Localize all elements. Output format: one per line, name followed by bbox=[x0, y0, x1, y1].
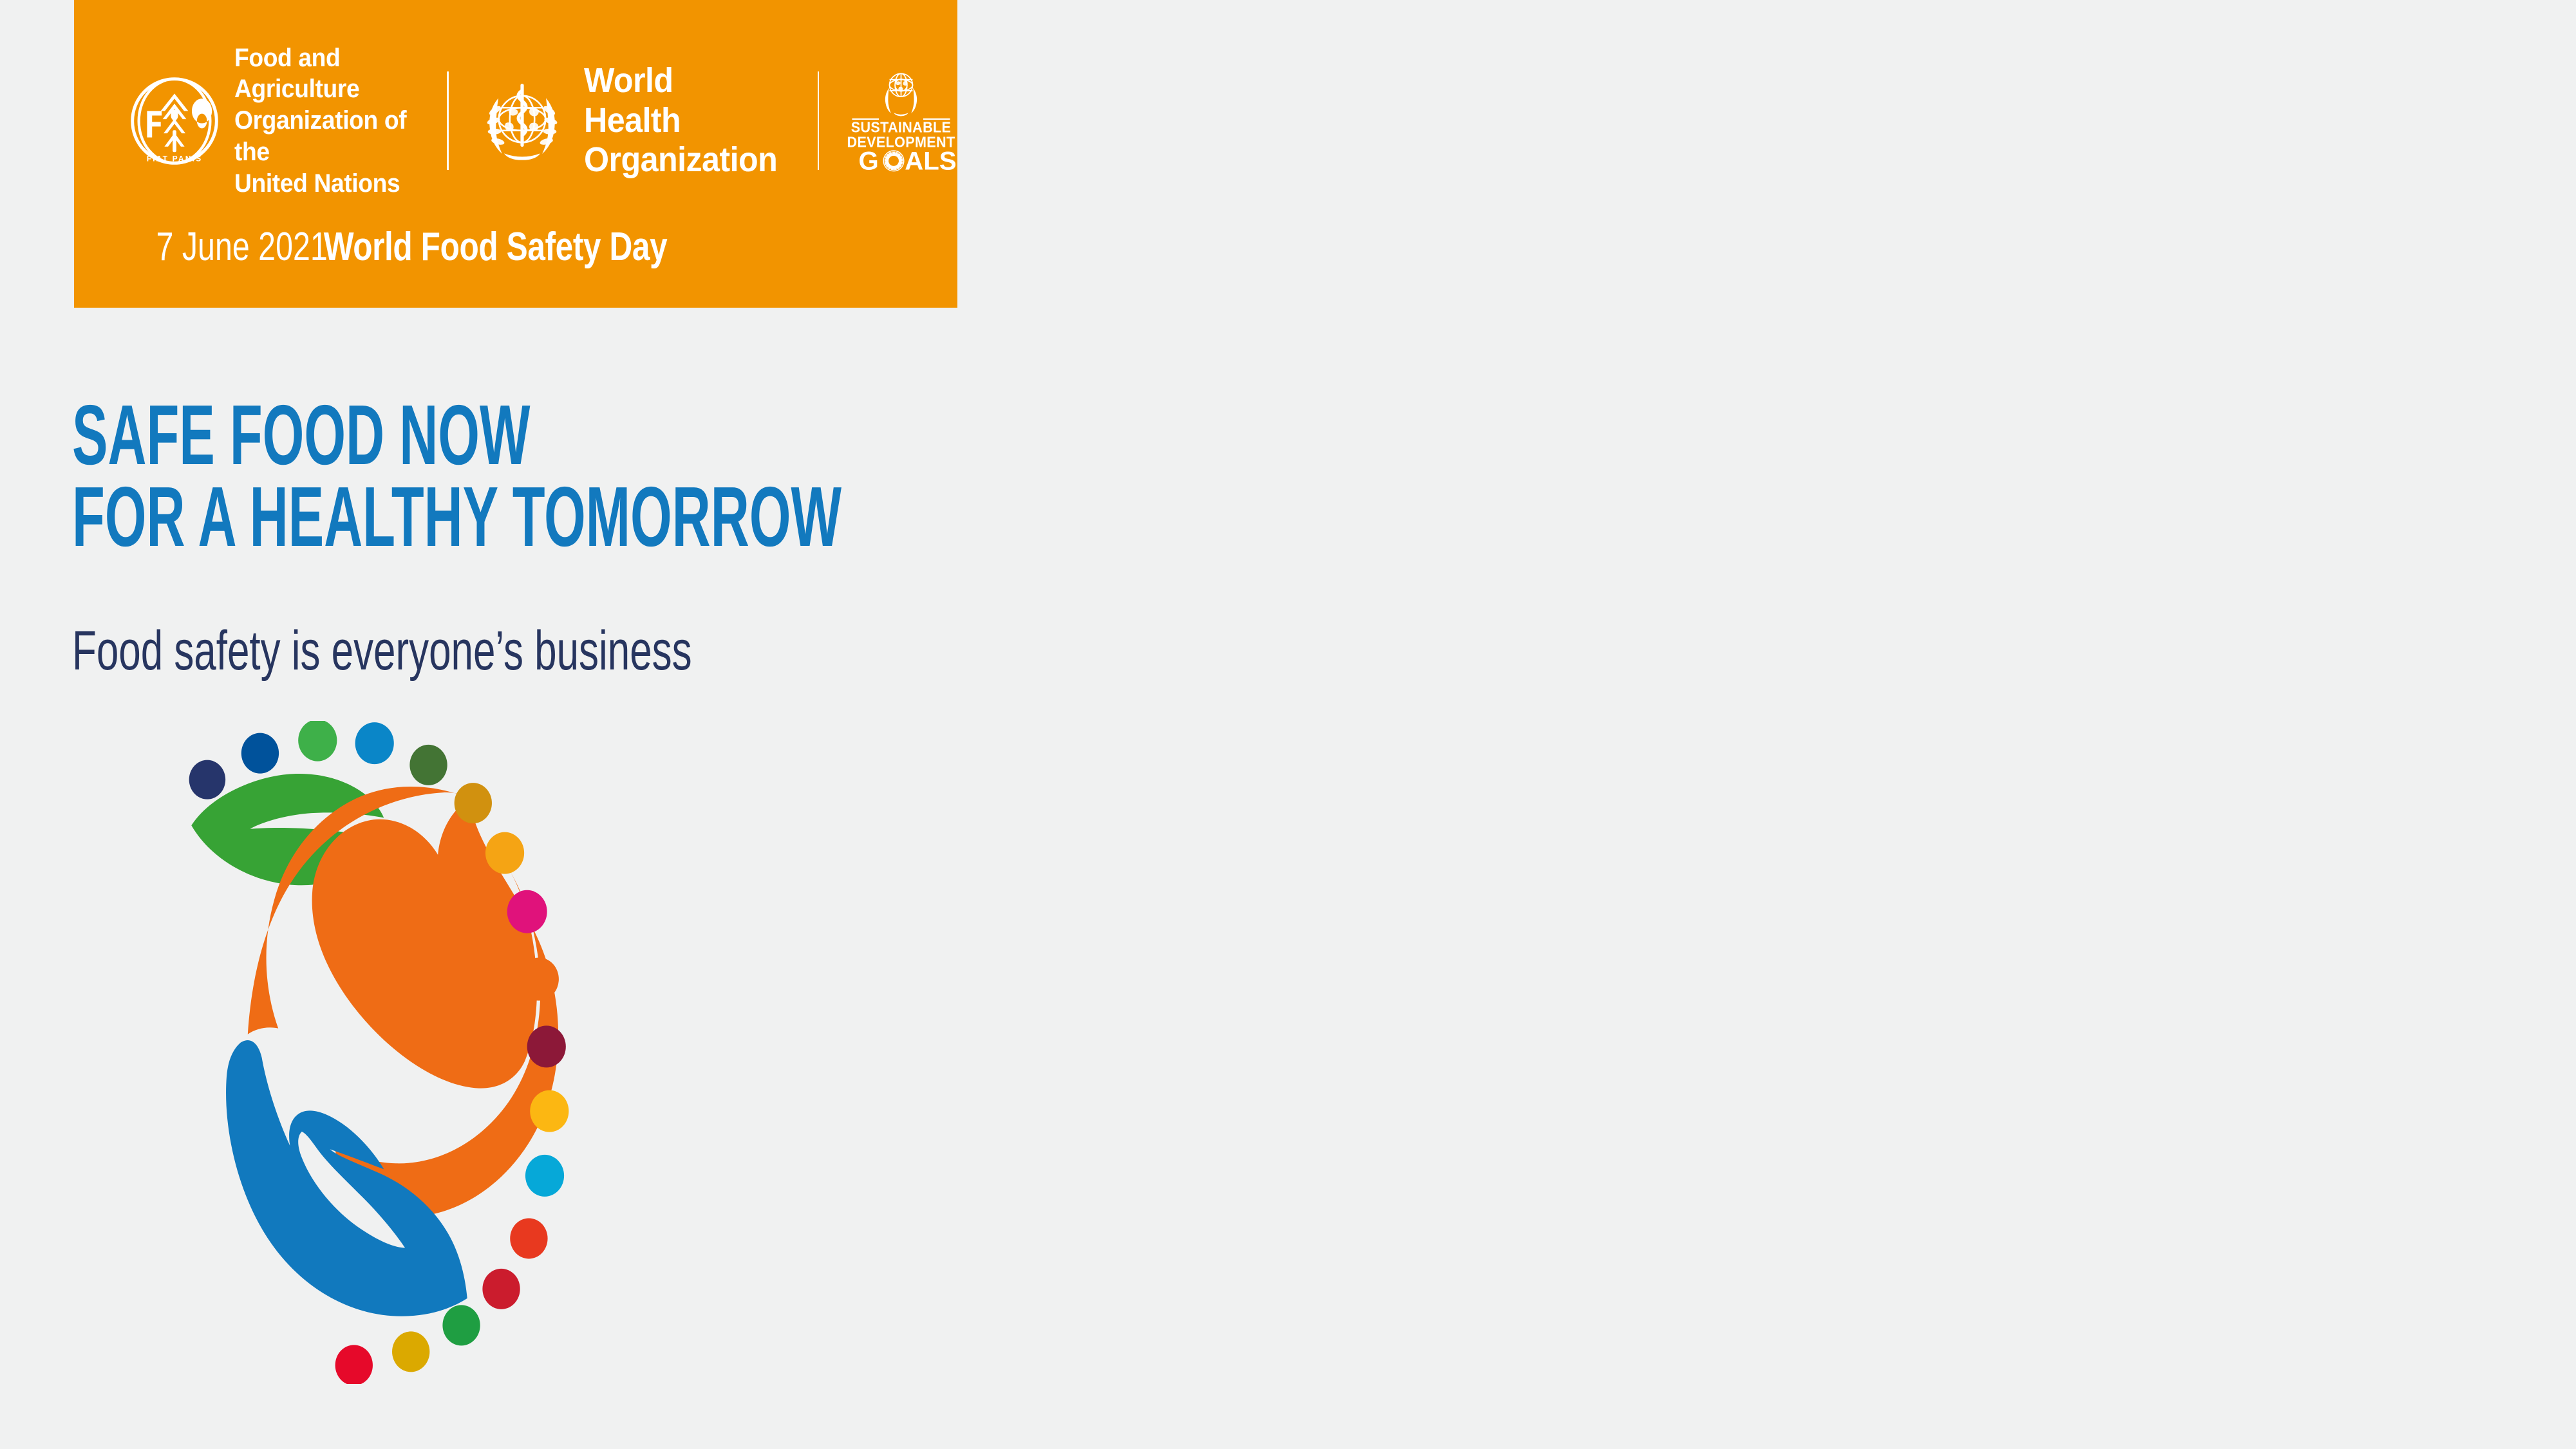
fao-logo-block: FIAT PANIS Food and Agriculture Organiza… bbox=[129, 68, 421, 174]
event-title: World Food Safety Day bbox=[324, 224, 668, 270]
fao-emblem-icon: FIAT PANIS bbox=[129, 75, 220, 167]
logo-divider-2 bbox=[818, 71, 819, 170]
fao-organization-name: Food and Agriculture Organization of the… bbox=[234, 42, 408, 200]
sdg-colour-wheel-icon bbox=[883, 151, 904, 171]
dot-sdg-13 bbox=[510, 1218, 547, 1258]
event-line: 7 June 2021 World Food Safety Day bbox=[132, 224, 710, 270]
dot-sdg-15 bbox=[442, 1305, 480, 1345]
dot-sdg-07 bbox=[485, 832, 524, 874]
dot-sdg-09 bbox=[519, 958, 559, 1001]
dot-sdg-04 bbox=[355, 722, 394, 764]
orange-banner: FIAT PANIS Food and Agriculture Organiza… bbox=[74, 0, 957, 308]
sdg-line-sustainable: SUSTAINABLE bbox=[851, 119, 952, 136]
dot-sdg-02 bbox=[241, 733, 279, 774]
world-food-safety-day-brandmark bbox=[187, 721, 985, 1384]
sdg-goals-g: G bbox=[859, 147, 879, 174]
dot-sdg-16 bbox=[392, 1331, 429, 1372]
event-date: 7 June 2021 bbox=[156, 224, 328, 270]
dot-sdg-03 bbox=[298, 721, 337, 762]
fao-motto: FIAT PANIS bbox=[147, 154, 203, 163]
headline-line-1: SAFE FOOD NOW bbox=[72, 395, 841, 476]
who-organization-name: World Health Organization bbox=[584, 61, 777, 180]
page-subtitle: Food safety is everyone’s business bbox=[72, 623, 692, 678]
dot-sdg-11 bbox=[530, 1090, 569, 1132]
organization-logo-row: FIAT PANIS Food and Agriculture Organiza… bbox=[129, 68, 957, 174]
who-logo-block: World Health Organization bbox=[475, 68, 792, 174]
dot-sdg-08 bbox=[507, 890, 547, 933]
headline-line-2: FOR A HEALTHY TOMORROW bbox=[72, 476, 841, 558]
dot-sdg-05 bbox=[409, 745, 447, 785]
sdg-logo-icon: SUSTAINABLE DEVELOPMENT G bbox=[845, 68, 957, 174]
un-emblem-icon bbox=[885, 73, 917, 116]
dot-sdg-01 bbox=[189, 760, 226, 799]
dot-sdg-12 bbox=[525, 1155, 564, 1197]
dot-sdg-17 bbox=[335, 1345, 373, 1384]
logo-divider-1 bbox=[447, 71, 448, 170]
who-emblem-icon bbox=[475, 73, 570, 169]
dot-sdg-10 bbox=[527, 1025, 566, 1067]
sdg-goals-als: ALS bbox=[905, 147, 956, 174]
sdg-logo-block: SUSTAINABLE DEVELOPMENT G bbox=[845, 68, 957, 174]
dot-sdg-14 bbox=[482, 1269, 520, 1309]
dot-sdg-06 bbox=[455, 783, 492, 823]
page-headline: SAFE FOOD NOW FOR A HEALTHY TOMORROW bbox=[72, 395, 841, 557]
